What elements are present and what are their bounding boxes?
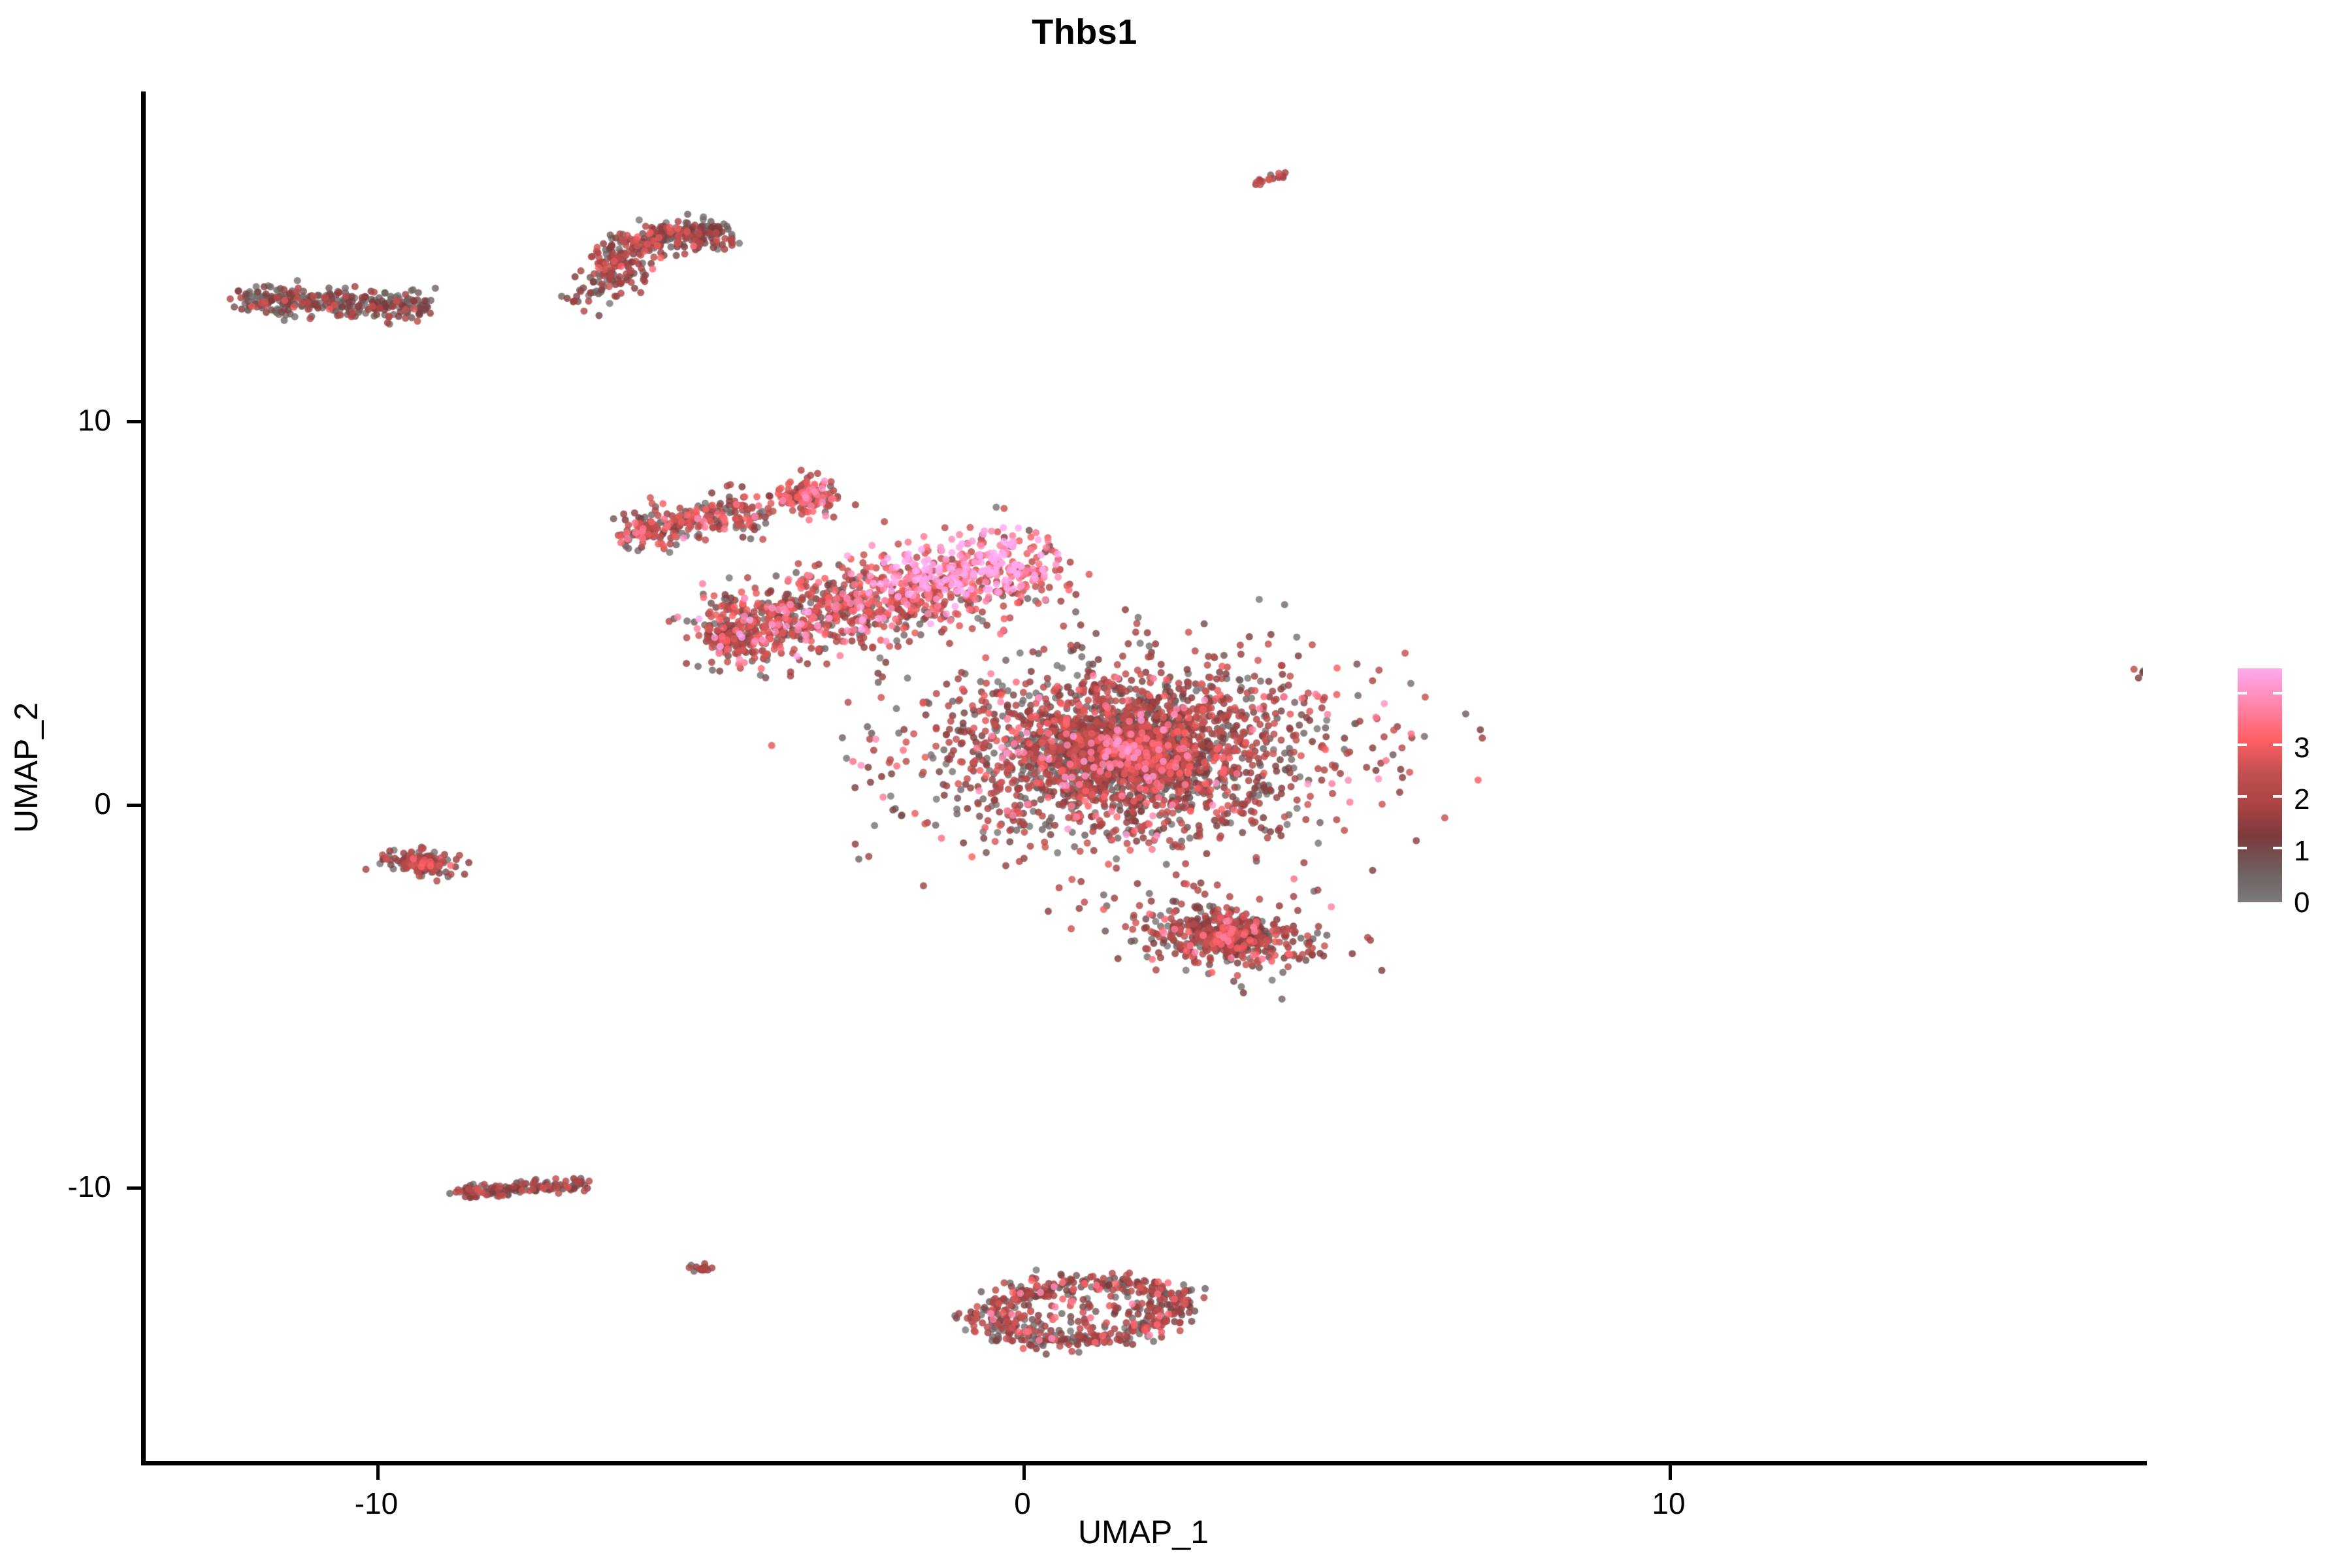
y-axis-line	[141, 91, 146, 1463]
legend-label-3: 3	[2294, 734, 2310, 762]
y-tick-mark-10	[127, 420, 141, 423]
x-tick-mark-10	[1669, 1465, 1672, 1480]
x-tick-mark-0	[1022, 1465, 1026, 1480]
legend-label-1: 1	[2294, 837, 2310, 866]
legend-label-2: 2	[2294, 785, 2310, 814]
x-tick-label-0: 0	[944, 1488, 1101, 1518]
legend-label-0: 0	[2294, 889, 2310, 917]
legend-tick-2	[2238, 743, 2282, 746]
x-tick-label-10: 10	[1590, 1488, 1747, 1518]
y-tick-label-neg10: -10	[13, 1171, 111, 1201]
color-legend: 0 1 2 3	[2238, 668, 2342, 904]
page-title: Thbs1	[0, 14, 2169, 50]
legend-tick-3	[2238, 692, 2282, 694]
x-axis-title: UMAP_1	[144, 1516, 2143, 1548]
scatter-plot-canvas	[144, 91, 2143, 1462]
umap-feature-plot: Thbs1 10 0 -10 -10 0 10 UMAP_1 UMAP_2 0 …	[0, 0, 2352, 1568]
y-axis-title: UMAP_2	[10, 441, 42, 1094]
plot-panel	[144, 91, 2143, 1462]
x-tick-label-neg10: -10	[298, 1488, 455, 1518]
y-tick-label-10: 10	[13, 405, 111, 435]
legend-tick-1	[2238, 795, 2282, 798]
x-axis-line	[141, 1461, 2147, 1465]
y-tick-mark-neg10	[127, 1186, 141, 1190]
x-tick-mark-neg10	[376, 1465, 380, 1480]
y-tick-mark-0	[127, 804, 141, 807]
legend-gradient-bar	[2238, 668, 2282, 902]
legend-tick-0	[2238, 847, 2282, 849]
